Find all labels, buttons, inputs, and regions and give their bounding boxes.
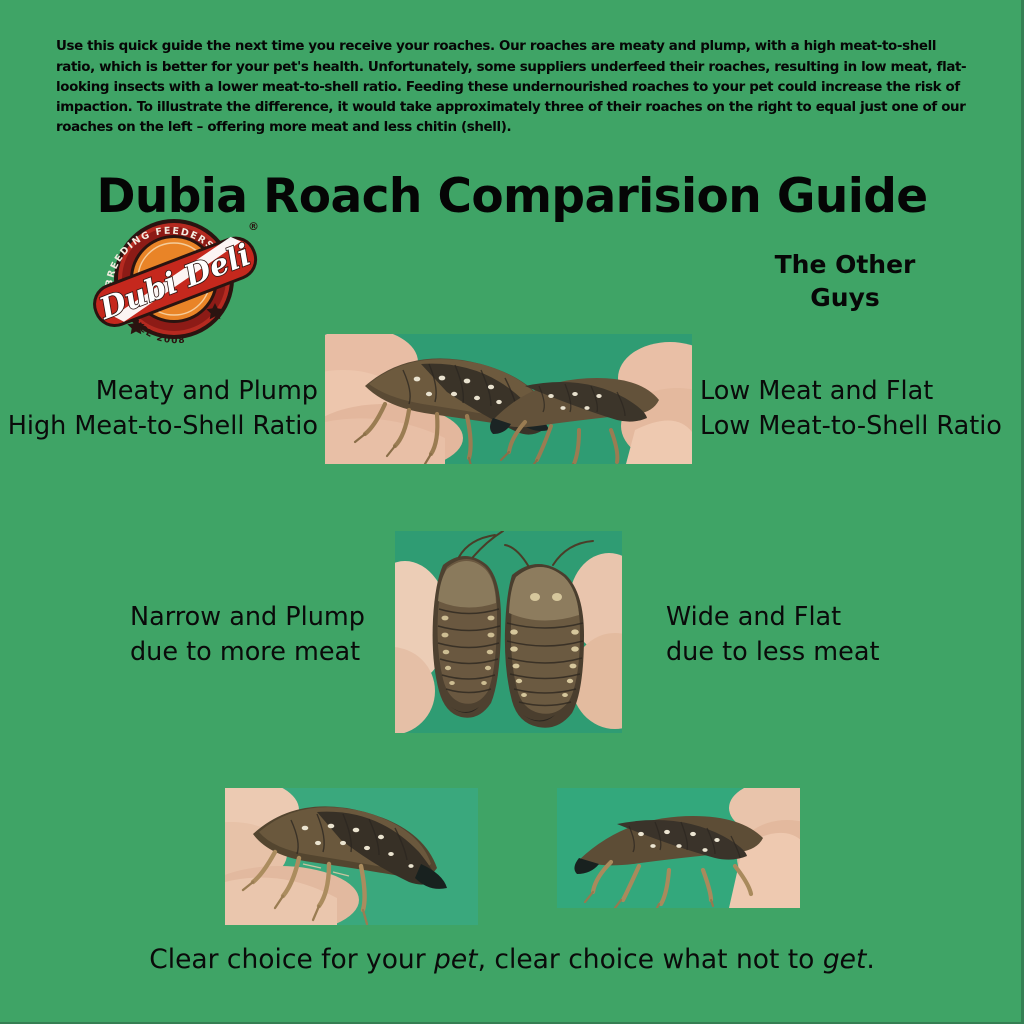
svg-text:®: ®: [248, 220, 259, 233]
caption-emphasis-get: get: [823, 944, 867, 975]
row-topdown-right-label: Wide and Flat due to less meat: [666, 600, 946, 670]
row-topdown-photo: [395, 531, 622, 733]
competitor-heading-line1: The Other: [700, 248, 990, 281]
bottom-caption: Clear choice for your pet, clear choice …: [0, 944, 1024, 975]
competitor-heading-line2: Guys: [700, 281, 990, 314]
row-closeup-left-photo: [225, 788, 478, 925]
competitor-heading: The Other Guys: [700, 248, 990, 314]
infographic-poster: Use this quick guide the next time you r…: [0, 0, 1024, 1024]
caption-emphasis-pet: pet: [434, 944, 478, 975]
caption-part1: Clear choice for your: [149, 944, 434, 975]
row-profile-left-label: Meaty and Plump High Meat-to-Shell Ratio: [0, 374, 318, 444]
row-topdown-left-label: Narrow and Plump due to more meat: [130, 600, 400, 670]
caption-part2: , clear choice what not to: [478, 944, 823, 975]
row-closeup-right-photo: [557, 788, 800, 908]
row-profile-right-label: Low Meat and Flat Low Meat-to-Shell Rati…: [700, 374, 1024, 444]
intro-paragraph: Use this quick guide the next time you r…: [56, 37, 968, 138]
row-profile-photo: [325, 334, 692, 464]
caption-part3: .: [866, 944, 874, 975]
dubi-deli-logo: BREEDING FEEDERS SINCE 2008 Dubi Deli ®: [82, 208, 266, 350]
